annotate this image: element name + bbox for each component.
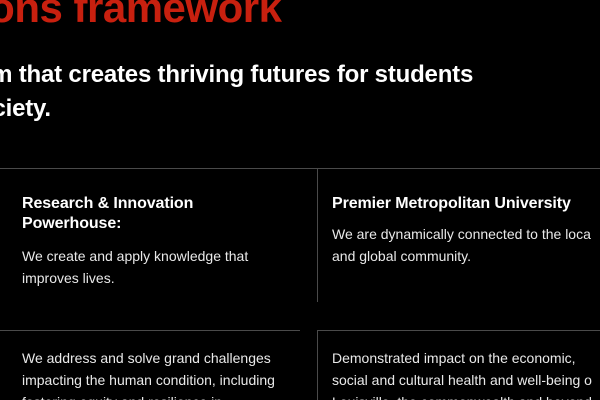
page-subtitle: em that creates thriving futures for stu… (0, 58, 600, 126)
column-left: Research & Innovation Powerhouse: We cre… (0, 169, 317, 400)
right-top-cell-title: Premier Metropolitan University (332, 194, 600, 214)
document-page: ions framework em that creates thriving … (0, 0, 600, 400)
left-top-cell-title: Research & Innovation Powerhouse: (22, 194, 282, 234)
content-columns: Research & Innovation Powerhouse: We cre… (0, 169, 600, 400)
right-bottom-cell-body: Demonstrated impact on the economic, soc… (332, 347, 600, 400)
left-top-cell-body: We create and apply knowledge that impro… (22, 245, 272, 289)
column-right: Premier Metropolitan University We are d… (318, 169, 600, 400)
page-title: ions framework (0, 0, 281, 32)
right-top-cell-body: We are dynamically connected to the loca… (332, 223, 600, 267)
left-bottom-cell-body: We address and solve grand challenges im… (22, 347, 292, 400)
